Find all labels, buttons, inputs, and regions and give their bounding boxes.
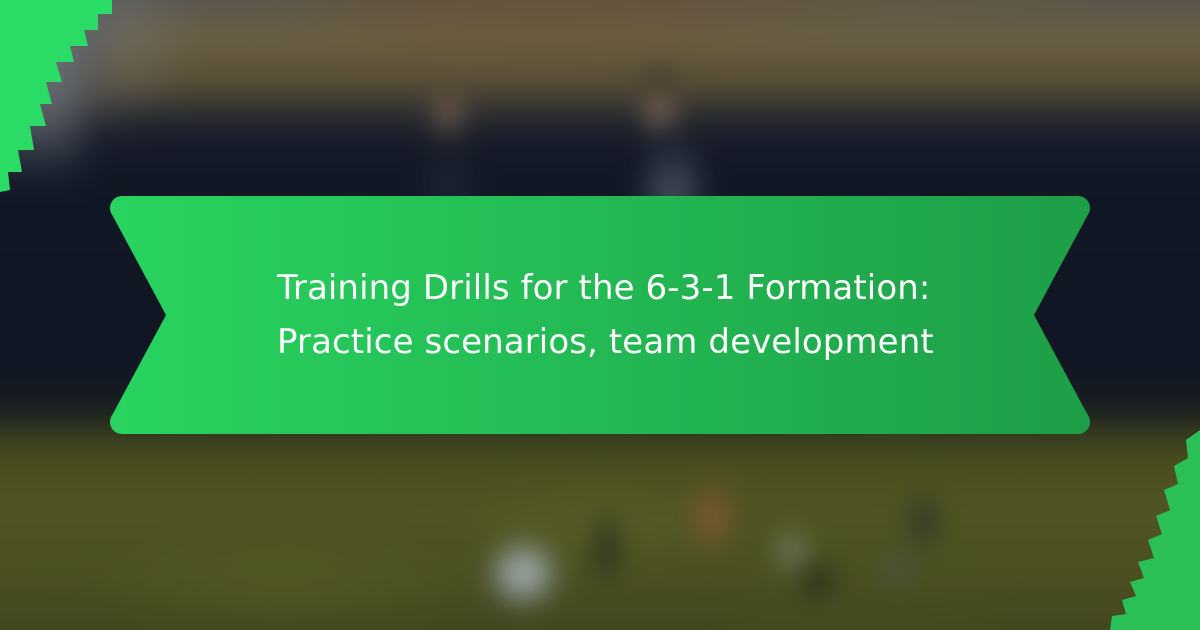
banner-title-block: Training Drills for the 6-3-1 Formation:… [277, 196, 1067, 434]
decoration-top-left [0, 0, 140, 210]
torn-zigzag-shape-top-left-icon [0, 0, 140, 210]
torn-zigzag-shape-bottom-right-icon [1050, 430, 1200, 630]
decoration-bottom-right [1050, 430, 1200, 630]
ribbon-banner: Training Drills for the 6-3-1 Formation:… [110, 196, 1090, 434]
social-card: Training Drills for the 6-3-1 Formation:… [0, 0, 1200, 630]
card-title-line-2: Practice scenarios, team development [277, 315, 1067, 369]
card-title-line-1: Training Drills for the 6-3-1 Formation: [277, 261, 1067, 315]
